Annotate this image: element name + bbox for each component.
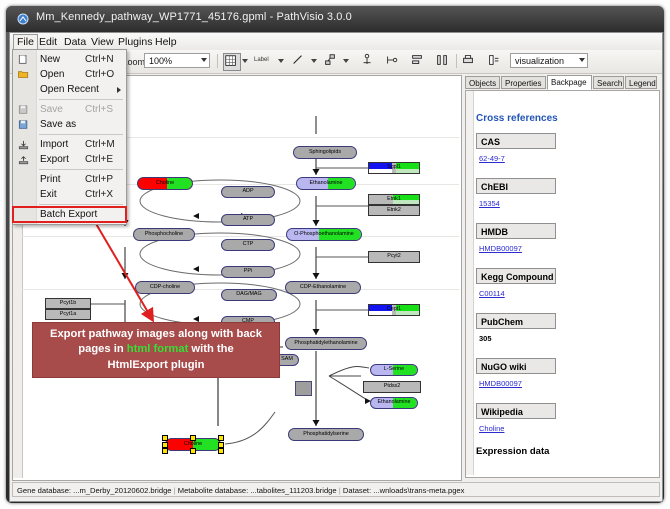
xref-label-kegg-compound: Kegg Compound — [476, 268, 556, 284]
label-button[interactable]: Label — [254, 57, 269, 63]
node-label: CTP — [243, 242, 254, 248]
chevron-down-icon — [579, 58, 585, 62]
status-bar: Gene database: ...m_Derby_20120602.bridg… — [12, 482, 660, 497]
file-menu-item-accelerator: Ctrl+O — [85, 67, 114, 82]
xref-label-nugo-wiki: NuGO wiki — [476, 358, 556, 374]
gene-node-pcyt2[interactable]: Pcyt2 — [368, 251, 420, 263]
screenshot-root: Mm_Kennedy_pathway_WP1771_45176.gpml - P… — [0, 0, 670, 509]
node-label: SAM — [281, 357, 293, 363]
xref-value-pubchem: 305 — [479, 334, 492, 343]
side-panel: Objects Properties Backpage Search Legen… — [462, 75, 660, 479]
annotation-line-2-pre: pages in — [78, 343, 127, 355]
node-label: Ethanolamine — [310, 181, 343, 187]
menu-view[interactable]: View — [87, 35, 118, 49]
selection-handle[interactable] — [218, 435, 224, 441]
metabolite-node-ppi[interactable]: PPi — [221, 266, 275, 278]
metabolite-node-o-phosphoethanolamine[interactable]: O-Phosphoethanolamine — [286, 228, 362, 241]
visualization-combo[interactable]: visualization — [510, 53, 588, 68]
state-icon[interactable] — [385, 53, 401, 69]
file-menu-item-accelerator: Ctrl+M — [85, 137, 115, 152]
submenu-arrow-icon — [117, 87, 121, 93]
grid-dropdown-caret-icon[interactable] — [242, 59, 248, 63]
status-separator-2: | — [339, 486, 341, 495]
file-menu-item-exit[interactable]: ExitCtrl+X — [13, 187, 126, 202]
file-menu-item-label: Batch Export — [40, 207, 97, 222]
menu-data[interactable]: Data — [60, 35, 90, 49]
metabolite-node-atp[interactable]: ATP — [221, 214, 275, 226]
xref-label-chebi: ChEBI — [476, 178, 556, 194]
node-label: Etnk1 — [387, 197, 401, 203]
xref-label-wikipedia: Wikipedia — [476, 403, 556, 419]
toolbar-separator-1 — [217, 54, 218, 68]
file-menu-item-label: Open — [40, 67, 64, 82]
tab-properties[interactable]: Properties — [501, 76, 546, 89]
line-icon[interactable] — [291, 53, 307, 69]
node-label: Ptdss2 — [384, 384, 400, 390]
zoom-value: 100% — [149, 56, 172, 66]
node-label: Etnk2 — [387, 208, 401, 214]
status-separator-1: | — [174, 486, 176, 495]
align-icon[interactable] — [410, 53, 426, 69]
node-label: Pcyt2 — [387, 254, 400, 260]
file-menu-separator — [39, 169, 123, 170]
metabolite-node-ethanolamine-top[interactable]: Ethanolamine — [296, 177, 356, 190]
node-label: ADP — [242, 189, 253, 195]
file-menu-separator — [39, 134, 123, 135]
file-menu-item-export[interactable]: ExportCtrl+E — [13, 152, 126, 167]
file-menu-item-open-recent[interactable]: Open Recent — [13, 82, 126, 97]
distribute-icon[interactable] — [435, 53, 451, 69]
node-label: O-Phosphoethanolamine — [294, 232, 354, 238]
interaction-icon[interactable] — [323, 53, 339, 69]
menu-edit[interactable]: Edit — [35, 35, 61, 49]
side-panel-tabs: Objects Properties Backpage Search Legen… — [462, 75, 660, 90]
chevron-down-icon — [201, 58, 207, 62]
file-menu-item-label: Export — [40, 152, 69, 167]
gene-node-etnk2[interactable]: Etnk2 — [368, 205, 420, 216]
stack-icon[interactable] — [487, 53, 503, 69]
anchor-icon[interactable] — [360, 53, 376, 69]
metabolite-node-ethanolamine-low[interactable]: Ethanolamine — [370, 397, 418, 409]
selection-handle[interactable] — [218, 448, 224, 454]
file-menu-item-save: SaveCtrl+S — [13, 102, 126, 117]
metabolite-node-cdp-ethanolamine[interactable]: CDP-Ethanolamine — [285, 281, 361, 294]
tab-legend[interactable]: Legend — [625, 76, 657, 89]
selection-handle[interactable] — [218, 442, 224, 448]
node-label: Ethanolamine — [378, 400, 411, 406]
metabolite-node-phosphatidylserine[interactable]: Phosphatidylserine — [288, 428, 364, 441]
print-icon[interactable] — [461, 53, 477, 69]
node-label: DAG/MAG — [236, 292, 261, 298]
node-label: Sgpl1 — [387, 165, 401, 171]
interaction-dropdown-caret-icon[interactable] — [343, 59, 349, 63]
file-menu-item-label: New — [40, 52, 60, 67]
reaction-node[interactable] — [295, 381, 312, 396]
file-menu-item-save-as[interactable]: Save as — [13, 117, 126, 132]
file-menu-item-import[interactable]: ImportCtrl+M — [13, 137, 126, 152]
file-menu-item-label: Save — [40, 102, 63, 117]
file-menu-item-accelerator: Ctrl+P — [85, 172, 113, 187]
annotation-highlight: html format — [127, 343, 189, 355]
menu-help[interactable]: Help — [151, 35, 181, 49]
node-label: Phosphatidylserine — [303, 432, 349, 438]
gene-node-etnk1[interactable]: Etnk1 — [368, 194, 420, 205]
metabolite-node-adp[interactable]: ADP — [221, 186, 275, 198]
open-folder-icon — [18, 70, 29, 80]
save-as-icon — [18, 120, 29, 130]
status-metabolite-database: Metabolite database: ...tabolites_111203… — [178, 486, 337, 495]
file-menu-item-accelerator: Ctrl+N — [85, 52, 114, 67]
node-label: PPi — [244, 269, 252, 275]
annotation-line-2-post: with the — [188, 343, 233, 355]
xref-label-hmdb: HMDB — [476, 223, 556, 239]
selection-handle[interactable] — [162, 435, 168, 441]
file-menu-item-batch-export[interactable]: Batch Export — [13, 207, 126, 222]
metabolite-node-phosphatidylethanolamine[interactable]: Phosphatidylethanolamine — [285, 337, 367, 350]
status-gene-database: Gene database: ...m_Derby_20120602.bridg… — [17, 486, 172, 495]
tab-objects[interactable]: Objects — [465, 76, 500, 89]
xref-label-cas: CAS — [476, 133, 556, 149]
grid-icon[interactable] — [223, 53, 241, 71]
xref-value-nugo-wiki[interactable]: HMDB00097 — [479, 379, 522, 388]
xref-value-cas[interactable]: 62-49-7 — [479, 154, 505, 163]
metabolite-node-l-serine[interactable]: L-Serine — [370, 364, 418, 376]
node-label: CDP-Ethanolamine — [300, 285, 346, 291]
gene-node-sgpl1[interactable]: Sgpl1 — [368, 162, 420, 174]
node-label: Phosphatidylethanolamine — [294, 341, 357, 347]
metabolite-node-ctp[interactable]: CTP — [221, 239, 275, 251]
annotation-line-3: HtmlExport plugin — [108, 359, 205, 371]
file-menu-item-print[interactable]: PrintCtrl+P — [13, 172, 126, 187]
node-label: ATP — [243, 217, 253, 223]
selection-handle[interactable] — [162, 448, 168, 454]
xref-value-hmdb[interactable]: HMDB00097 — [479, 244, 522, 253]
new-file-icon — [18, 55, 29, 65]
application-window: Mm_Kennedy_pathway_WP1771_45176.gpml - P… — [6, 6, 664, 503]
status-dataset: Dataset: ...wnloads\trans-meta.pgex — [343, 486, 465, 495]
cross-references-heading: Cross references — [476, 113, 558, 124]
zoom-combo[interactable]: 100% — [144, 53, 210, 68]
file-menu-item-new[interactable]: NewCtrl+N — [13, 52, 126, 67]
xref-label-pubchem: PubChem — [476, 313, 556, 329]
toolbar-separator-2 — [456, 54, 457, 68]
file-menu-item-accelerator: Ctrl+E — [85, 152, 113, 167]
xref-value-kegg-compound[interactable]: C00114 — [479, 289, 505, 298]
annotation-line-1: Export pathway images along with back — [50, 328, 262, 340]
file-menu-item-label: Import — [40, 137, 68, 152]
tab-search[interactable]: Search — [593, 76, 624, 89]
file-menu-item-label: Print — [40, 172, 61, 187]
file-menu-item-open[interactable]: OpenCtrl+O — [13, 67, 126, 82]
xref-value-chebi[interactable]: 15354 — [479, 199, 500, 208]
selection-handle[interactable] — [162, 442, 168, 448]
visualization-value: visualization — [515, 56, 564, 66]
window-client-area: File Edit Data View Plugins Help Zoom: 1… — [9, 32, 663, 502]
gene-node-cept1[interactable]: Cept1 — [368, 304, 420, 316]
node-label: Sphingolipids — [309, 150, 341, 156]
save-icon — [18, 105, 29, 115]
annotation-callout: Export pathway images along with back pa… — [32, 322, 280, 378]
line-dropdown-caret-icon[interactable] — [311, 59, 317, 63]
node-label: Cept1 — [387, 307, 401, 313]
title-bar: Mm_Kennedy_pathway_WP1771_45176.gpml - P… — [6, 6, 664, 32]
file-menu-item-accelerator: Ctrl+X — [85, 187, 113, 202]
selection-handle[interactable] — [190, 448, 196, 454]
gene-node-ptdss2[interactable]: Ptdss2 — [363, 381, 421, 393]
file-menu-item-label: Save as — [40, 117, 76, 132]
node-label: L-Serine — [384, 367, 404, 373]
file-menu-item-label: Exit — [40, 187, 57, 202]
import-icon — [18, 140, 29, 150]
xref-value-wikipedia[interactable]: Choline — [479, 424, 504, 433]
file-menu-item-accelerator: Ctrl+S — [85, 102, 113, 117]
file-menu-popup[interactable]: NewCtrl+NOpenCtrl+OOpen RecentSaveCtrl+S… — [12, 49, 127, 225]
backpage-scrollbar[interactable] — [466, 91, 474, 475]
file-menu-separator — [39, 99, 123, 100]
file-menu-item-label: Open Recent — [40, 82, 99, 97]
file-menu-separator — [39, 204, 123, 205]
tab-backpage[interactable]: Backpage — [547, 75, 592, 90]
metabolite-node-sphingolipids[interactable]: Sphingolipids — [293, 146, 357, 159]
expression-data-heading: Expression data — [476, 446, 549, 457]
label-dropdown-caret-icon[interactable] — [278, 59, 284, 63]
node-label: Choline — [184, 442, 202, 448]
metabolite-node-dag-mag[interactable]: DAG/MAG — [221, 289, 277, 301]
backpage-content: Cross references CAS62-49-7ChEBI15354HMD… — [465, 90, 660, 478]
export-icon — [18, 155, 29, 165]
window-title: Mm_Kennedy_pathway_WP1771_45176.gpml - P… — [36, 11, 352, 23]
pathvisio-icon — [17, 13, 29, 25]
